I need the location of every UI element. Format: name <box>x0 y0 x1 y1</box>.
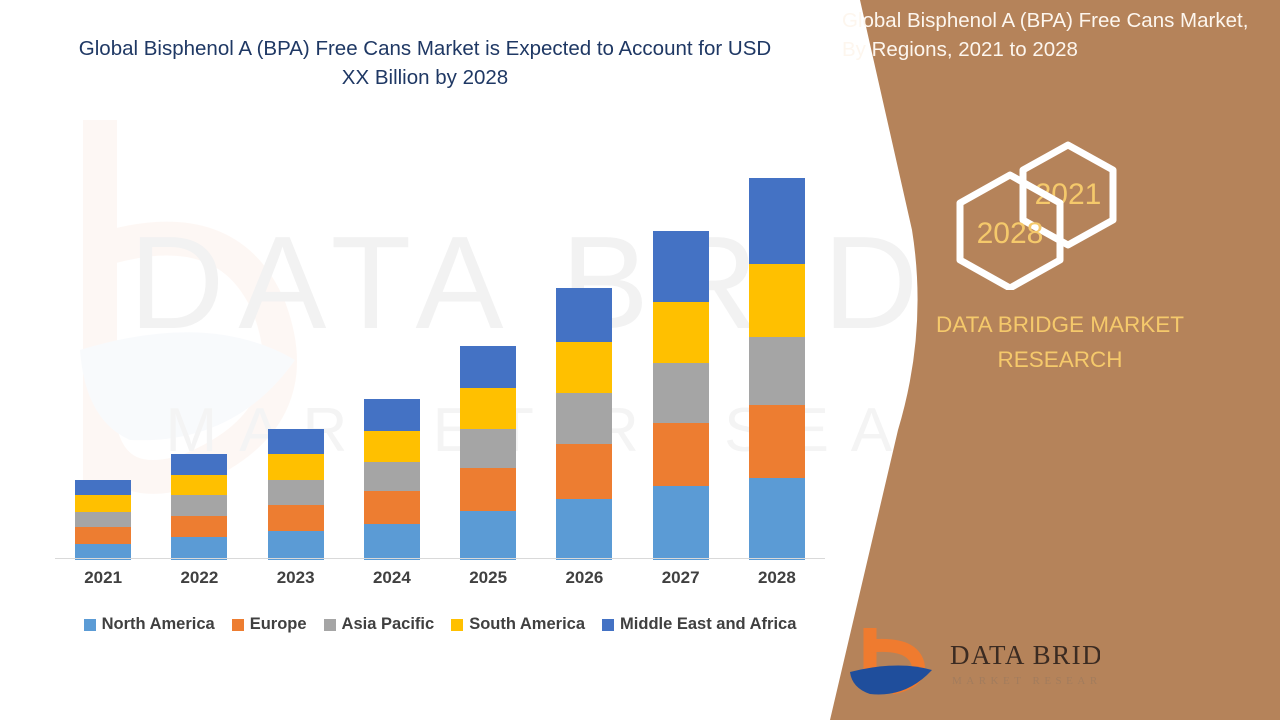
bar-column-2022[interactable] <box>171 454 227 560</box>
bar-segment-middle-east-and-africa[interactable] <box>653 231 709 302</box>
hexagon-2028-label: 2028 <box>977 217 1044 250</box>
bar-segment-middle-east-and-africa[interactable] <box>556 288 612 341</box>
x-axis-label-2027: 2027 <box>636 568 726 588</box>
bar-segment-middle-east-and-africa[interactable] <box>268 429 324 455</box>
panel-content: Global Bisphenol A (BPA) Free Cans Marke… <box>820 0 1280 720</box>
panel-title: Global Bisphenol A (BPA) Free Cans Marke… <box>842 6 1262 64</box>
slide-canvas: DATA BRIDGE MARKET RESEARCH Global Bisph… <box>0 0 1280 720</box>
bar-column-2025[interactable] <box>460 346 516 560</box>
legend-swatch-icon <box>232 619 244 631</box>
data-bridge-logo: DATA BRIDGE MARKET RESEARCH <box>840 620 1100 706</box>
bar-segment-middle-east-and-africa[interactable] <box>364 399 420 431</box>
bar-segment-asia-pacific[interactable] <box>171 495 227 516</box>
bar-column-2028[interactable] <box>749 178 805 560</box>
x-axis-label-2023: 2023 <box>251 568 341 588</box>
x-axis-label-2026: 2026 <box>539 568 629 588</box>
legend-item-asia-pacific[interactable]: Asia Pacific <box>324 615 435 634</box>
bar-segment-europe[interactable] <box>364 491 420 524</box>
hexagon-year-badges: 2021 2028 <box>950 140 1150 290</box>
bar-segment-south-america[interactable] <box>364 431 420 462</box>
legend-label: South America <box>469 615 585 634</box>
bar-segment-asia-pacific[interactable] <box>364 462 420 492</box>
bar-segment-south-america[interactable] <box>268 454 324 480</box>
bar-segment-europe[interactable] <box>75 527 131 543</box>
brand-line-1: DATA BRIDGE MARKET <box>860 308 1260 343</box>
bar-segment-europe[interactable] <box>171 516 227 538</box>
x-axis-label-2024: 2024 <box>347 568 437 588</box>
bar-segment-south-america[interactable] <box>460 388 516 429</box>
legend-item-middle-east-and-africa[interactable]: Middle East and Africa <box>602 615 796 634</box>
legend-item-europe[interactable]: Europe <box>232 615 307 634</box>
x-axis-label-2022: 2022 <box>154 568 244 588</box>
bar-segment-south-america[interactable] <box>653 302 709 364</box>
bar-segment-asia-pacific[interactable] <box>653 363 709 422</box>
bar-segment-asia-pacific[interactable] <box>268 480 324 505</box>
legend-label: Middle East and Africa <box>620 615 796 634</box>
bar-segment-asia-pacific[interactable] <box>460 429 516 468</box>
bar-segment-europe[interactable] <box>268 505 324 532</box>
bar-column-2027[interactable] <box>653 231 709 560</box>
bar-segment-europe[interactable] <box>653 423 709 487</box>
legend-item-north-america[interactable]: North America <box>84 615 215 634</box>
bar-segment-north-america[interactable] <box>556 499 612 561</box>
bar-segment-north-america[interactable] <box>364 524 420 560</box>
bar-segment-north-america[interactable] <box>171 537 227 560</box>
bar-column-2023[interactable] <box>268 429 324 560</box>
brand-line-2: RESEARCH <box>860 343 1260 378</box>
stacked-bar-chart <box>55 150 825 560</box>
bar-segment-europe[interactable] <box>556 444 612 498</box>
legend-item-south-america[interactable]: South America <box>451 615 585 634</box>
bar-segment-south-america[interactable] <box>556 342 612 393</box>
x-axis-label-2021: 2021 <box>58 568 148 588</box>
bar-segment-asia-pacific[interactable] <box>749 337 805 406</box>
bar-segment-north-america[interactable] <box>460 511 516 560</box>
bar-segment-middle-east-and-africa[interactable] <box>749 178 805 264</box>
bar-segment-south-america[interactable] <box>171 475 227 496</box>
bar-segment-north-america[interactable] <box>749 478 805 560</box>
bar-segment-north-america[interactable] <box>653 486 709 560</box>
x-axis-labels: 20212022202320242025202620272028 <box>55 568 825 602</box>
legend-swatch-icon <box>84 619 96 631</box>
bar-column-2024[interactable] <box>364 399 420 560</box>
chart-title: Global Bisphenol A (BPA) Free Cans Marke… <box>70 34 780 92</box>
legend-swatch-icon <box>602 619 614 631</box>
right-branding-panel: Global Bisphenol A (BPA) Free Cans Marke… <box>820 0 1280 720</box>
bar-segment-south-america[interactable] <box>75 495 131 511</box>
chart-legend: North AmericaEuropeAsia PacificSouth Ame… <box>55 615 825 634</box>
bar-segment-europe[interactable] <box>749 405 805 478</box>
brand-name: DATA BRIDGE MARKET RESEARCH <box>860 308 1260 378</box>
x-axis-label-2028: 2028 <box>732 568 822 588</box>
legend-label: Europe <box>250 615 307 634</box>
bar-segment-middle-east-and-africa[interactable] <box>171 454 227 475</box>
bar-segment-asia-pacific[interactable] <box>75 512 131 527</box>
legend-label: North America <box>102 615 215 634</box>
chart-baseline <box>55 558 825 559</box>
legend-swatch-icon <box>451 619 463 631</box>
bar-segment-north-america[interactable] <box>268 531 324 560</box>
bar-segment-middle-east-and-africa[interactable] <box>75 480 131 495</box>
legend-swatch-icon <box>324 619 336 631</box>
legend-label: Asia Pacific <box>342 615 435 634</box>
logo-tagline: MARKET RESEARCH <box>952 675 1100 687</box>
bar-segment-south-america[interactable] <box>749 264 805 337</box>
x-axis-label-2025: 2025 <box>443 568 533 588</box>
bar-segment-middle-east-and-africa[interactable] <box>460 346 516 388</box>
logo-wordmark: DATA BRIDGE <box>950 640 1100 670</box>
bar-column-2026[interactable] <box>556 288 612 560</box>
bar-column-2021[interactable] <box>75 480 131 560</box>
bar-segment-asia-pacific[interactable] <box>556 393 612 444</box>
bar-segment-europe[interactable] <box>460 468 516 511</box>
